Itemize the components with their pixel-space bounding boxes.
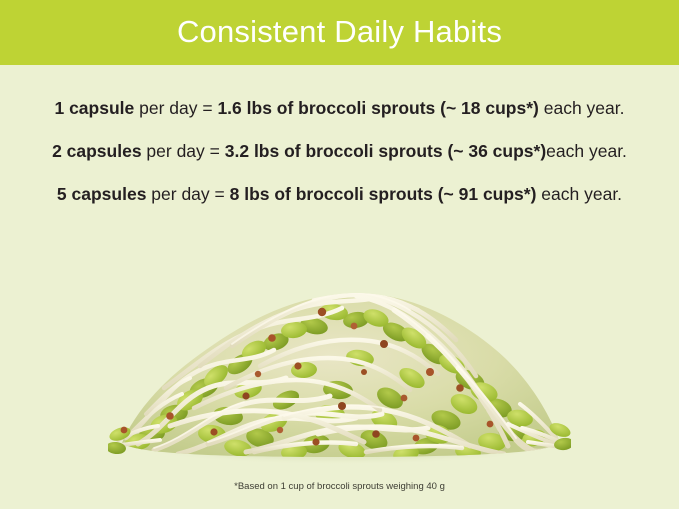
statement-dose: 5 capsules bbox=[57, 184, 147, 204]
statement-dose: 2 capsules bbox=[52, 141, 142, 161]
header-band: Consistent Daily Habits bbox=[0, 0, 679, 65]
statement-amount: 1.6 lbs of broccoli sprouts bbox=[217, 98, 435, 118]
statement-cups: (~ 36 cups*) bbox=[443, 141, 547, 161]
broccoli-sprouts-illustration bbox=[108, 238, 571, 473]
sprout-loose-seed-left bbox=[121, 427, 128, 434]
statement-connector: per day = bbox=[134, 98, 217, 118]
statement-suffix: each year. bbox=[546, 141, 627, 161]
broccoli-sprouts-image bbox=[108, 238, 571, 473]
statement-row: 2 capsules per day = 3.2 lbs of broccoli… bbox=[0, 130, 679, 173]
sprout-pile-body bbox=[122, 293, 560, 465]
statement-connector: per day = bbox=[146, 184, 229, 204]
statements-list: 1 capsule per day = 1.6 lbs of broccoli … bbox=[0, 65, 679, 216]
statement-cups: (~ 18 cups*) bbox=[435, 98, 539, 118]
statement-connector: per day = bbox=[142, 141, 225, 161]
page-title: Consistent Daily Habits bbox=[177, 16, 502, 49]
statement-cups: (~ 91 cups*) bbox=[433, 184, 537, 204]
statement-suffix: each year. bbox=[536, 184, 622, 204]
statement-amount: 8 lbs of broccoli sprouts bbox=[230, 184, 433, 204]
footnote-text: *Based on 1 cup of broccoli sprouts weig… bbox=[0, 480, 679, 494]
statement-amount: 3.2 lbs of broccoli sprouts bbox=[225, 141, 443, 161]
statement-row: 1 capsule per day = 1.6 lbs of broccoli … bbox=[0, 87, 679, 130]
statement-dose: 1 capsule bbox=[54, 98, 134, 118]
infographic-root: Consistent Daily Habits 1 capsule per da… bbox=[0, 0, 679, 509]
statement-suffix: each year. bbox=[539, 98, 625, 118]
statement-row: 5 capsules per day = 8 lbs of broccoli s… bbox=[0, 173, 679, 216]
